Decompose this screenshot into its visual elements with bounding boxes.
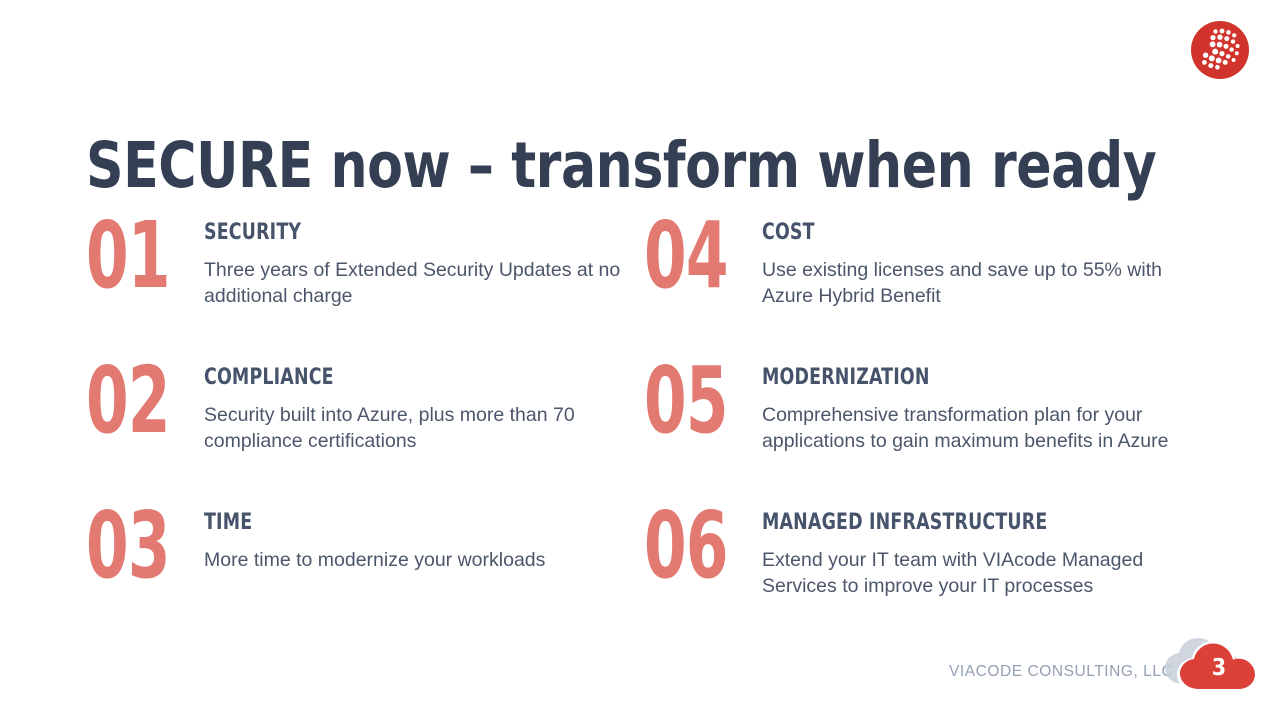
benefit-number: 03 xyxy=(86,495,173,589)
benefit-item-05: 05 MODERNIZATION Comprehensive transform… xyxy=(644,350,1202,495)
cloud-icon xyxy=(1160,634,1266,696)
benefit-number: 05 xyxy=(644,350,731,444)
benefit-body: COST Use existing licenses and save up t… xyxy=(762,205,1202,309)
slide-canvas: SECURE now – transform when ready 01 SEC… xyxy=(0,0,1280,720)
benefit-item-02: 02 COMPLIANCE Security built into Azure,… xyxy=(86,350,644,495)
benefit-number: 06 xyxy=(644,495,731,589)
benefit-body: MODERNIZATION Comprehensive transformati… xyxy=(762,350,1202,454)
benefit-number: 01 xyxy=(86,205,173,299)
benefit-description: Three years of Extended Security Updates… xyxy=(204,258,634,309)
page-number-badge: 3 xyxy=(1160,634,1266,696)
benefit-description: Extend your IT team with VIAcode Managed… xyxy=(762,548,1187,599)
benefit-item-06: 06 MANAGED INFRASTRUCTURE Extend your IT… xyxy=(644,495,1202,640)
benefit-number: 02 xyxy=(86,350,173,444)
benefit-item-04: 04 COST Use existing licenses and save u… xyxy=(644,205,1202,350)
benefit-body: MANAGED INFRASTRUCTURE Extend your IT te… xyxy=(762,495,1202,599)
benefit-description: Security built into Azure, plus more tha… xyxy=(204,403,634,454)
footer-company-name: VIACODE CONSULTING, LLC xyxy=(949,663,1173,681)
benefit-description: Comprehensive transformation plan for yo… xyxy=(762,403,1187,454)
benefit-heading: MODERNIZATION xyxy=(762,366,1149,390)
benefit-heading: MANAGED INFRASTRUCTURE xyxy=(762,511,1149,535)
benefit-heading: COST xyxy=(762,221,1149,245)
benefit-item-03: 03 TIME More time to modernize your work… xyxy=(86,495,644,640)
benefit-heading: SECURITY xyxy=(204,221,591,245)
benefit-heading: TIME xyxy=(204,511,591,535)
benefit-item-01: 01 SECURITY Three years of Extended Secu… xyxy=(86,205,644,350)
viacode-globe-logo-icon xyxy=(1190,20,1250,80)
benefit-number: 04 xyxy=(644,205,731,299)
page-title: SECURE now – transform when ready xyxy=(86,130,1098,202)
benefit-body: TIME More time to modernize your workloa… xyxy=(204,495,644,574)
benefits-grid: 01 SECURITY Three years of Extended Secu… xyxy=(86,205,1206,640)
benefit-description: More time to modernize your workloads xyxy=(204,548,634,574)
benefit-body: SECURITY Three years of Extended Securit… xyxy=(204,205,644,309)
benefit-body: COMPLIANCE Security built into Azure, pl… xyxy=(204,350,644,454)
benefit-heading: COMPLIANCE xyxy=(204,366,591,390)
benefit-description: Use existing licenses and save up to 55%… xyxy=(762,258,1187,309)
